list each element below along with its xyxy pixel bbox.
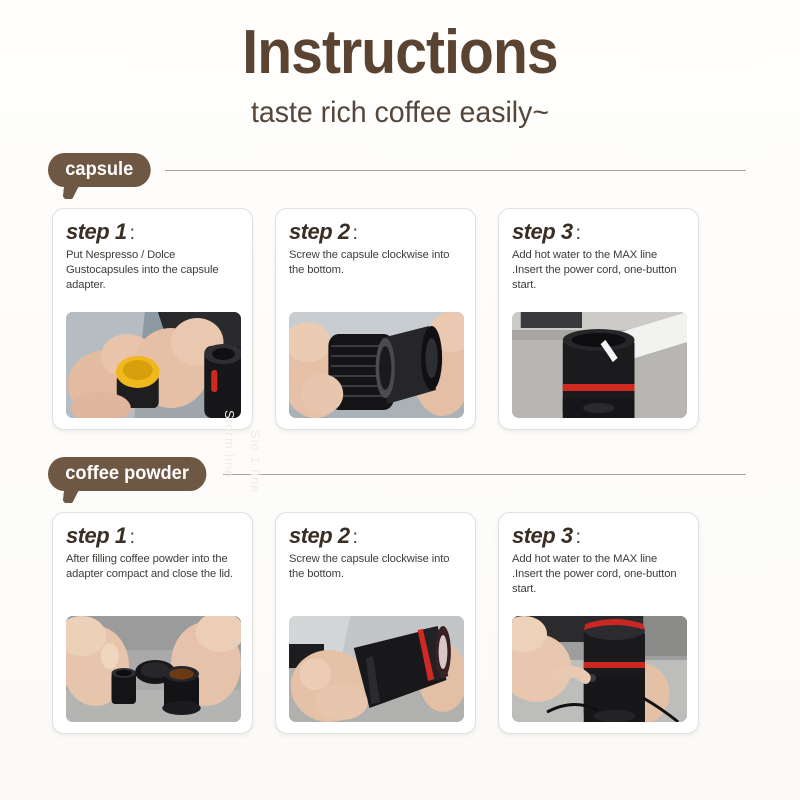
section-divider-coffee-powder (223, 474, 746, 475)
card-step-label: step 2 (289, 219, 350, 244)
card-description: Put Nespresso / Dolce Gustocapsules into… (66, 248, 241, 294)
card-step-heading: step 1: (66, 525, 241, 547)
section-header-coffee-powder: coffee powder (48, 448, 746, 500)
card-capsule-step-3[interactable]: step 3: Add hot water to the MAX line .I… (498, 208, 699, 430)
card-powder-step-1[interactable]: step 1: After filling coffee powder into… (52, 512, 253, 734)
card-step-heading: step 3: (512, 221, 687, 243)
card-step-heading: step 1: (66, 221, 241, 243)
card-step-colon: : (130, 527, 135, 548)
card-step-label: step 1 (66, 219, 127, 244)
photo-powder-step2-hands-screwing-black-brewer-with-red-ring (289, 616, 464, 722)
page-title: Instructions (32, 22, 768, 84)
page-header: Instructions taste rich coffee easily~ (0, 0, 800, 130)
card-step-heading: step 3: (512, 525, 687, 547)
photo-powder-step3-finger-pressing-button-on-brewer-with-cord (512, 616, 687, 722)
photo-capsule-step1-hands-holding-yellow-capsule-and-black-brewer (66, 312, 241, 418)
card-description: Add hot water to the MAX line .Insert th… (512, 248, 687, 294)
card-step-heading: step 2: (289, 525, 464, 547)
section-badge-capsule: capsule (48, 153, 150, 188)
card-description: Screw the capsule clockwise into the bot… (289, 248, 464, 294)
card-step-colon: : (576, 527, 581, 548)
photo-capsule-step2-hands-screwing-black-capsule-adapter (289, 312, 464, 418)
card-step-colon: : (353, 527, 358, 548)
photo-capsule-step3-pouring-hot-water-into-black-brewer (512, 312, 687, 418)
card-description: Add hot water to the MAX line .Insert th… (512, 552, 687, 598)
card-step-colon: : (576, 223, 581, 244)
card-step-label: step 1 (66, 523, 127, 548)
card-step-colon: : (130, 223, 135, 244)
instructions-page: Instructions taste rich coffee easily~ S… (0, 0, 800, 800)
card-step-heading: step 2: (289, 221, 464, 243)
coffee-powder-step-grid: step 1: After filling coffee powder into… (0, 512, 800, 734)
card-powder-step-3[interactable]: step 3: Add hot water to the MAX line .I… (498, 512, 699, 734)
card-step-colon: : (353, 223, 358, 244)
section-divider-capsule (165, 170, 746, 171)
card-step-label: step 3 (512, 219, 573, 244)
capsule-step-grid: step 1: Put Nespresso / Dolce Gustocapsu… (0, 208, 800, 430)
page-subtitle: taste rich coffee easily~ (20, 96, 780, 130)
section-badge-coffee-powder: coffee powder (48, 457, 206, 492)
card-capsule-step-1[interactable]: step 1: Put Nespresso / Dolce Gustocapsu… (52, 208, 253, 430)
card-description: Screw the capsule clockwise into the bot… (289, 552, 464, 598)
card-description: After filling coffee powder into the ada… (66, 552, 241, 598)
card-capsule-step-2[interactable]: step 2: Screw the capsule clockwise into… (275, 208, 476, 430)
card-step-label: step 3 (512, 523, 573, 548)
photo-powder-step1-hands-filling-ground-coffee-into-adapter (66, 616, 241, 722)
card-step-label: step 2 (289, 523, 350, 548)
section-header-capsule: capsule (48, 144, 746, 196)
card-powder-step-2[interactable]: step 2: Screw the capsule clockwise into… (275, 512, 476, 734)
